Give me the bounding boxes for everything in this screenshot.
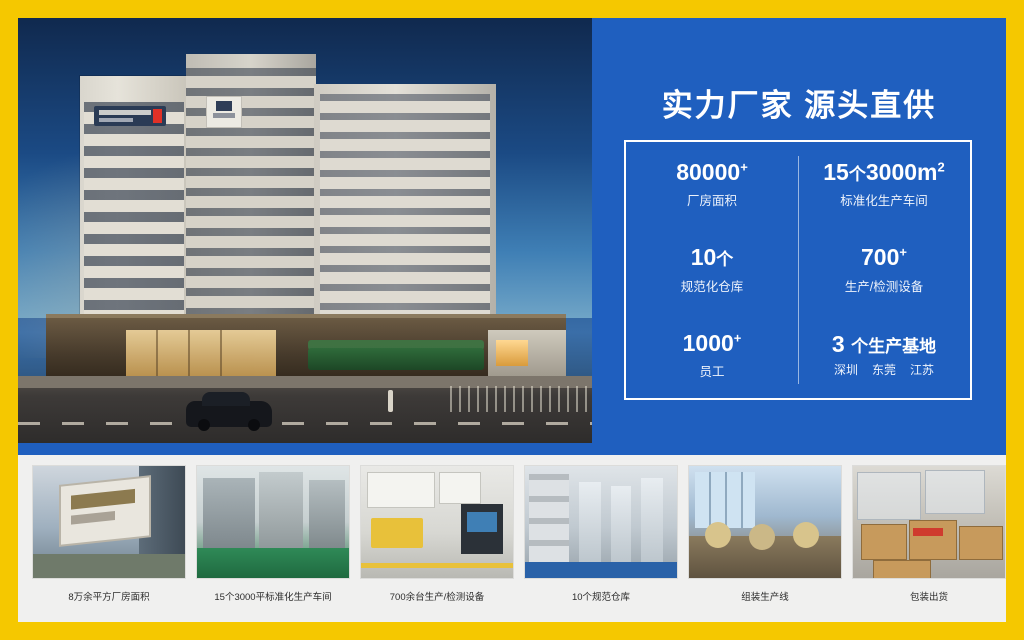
photo-carton bbox=[909, 520, 957, 560]
stat-cell-production-bases: 3 个生产基地 深圳 东莞 江苏 bbox=[798, 313, 970, 398]
guard-house-window bbox=[496, 340, 528, 366]
photo-assembly-part bbox=[705, 522, 731, 548]
thumbnail-photo-equipment bbox=[360, 465, 514, 579]
poster-inner-panel: 实力厂家 源头直供 80000+ 厂房面积 15个3000m2 标准化生产车间 bbox=[18, 18, 1006, 622]
thumbnail-item-equipment[interactable]: 700余台生产/检测设备 bbox=[360, 465, 514, 603]
photo-control-cabinet bbox=[461, 504, 503, 554]
sign-band-secondary bbox=[71, 511, 115, 525]
stat-cell-employees: 1000+ 员工 bbox=[626, 313, 798, 398]
photo-assembly-part bbox=[793, 522, 819, 548]
car-roof bbox=[202, 392, 250, 406]
factory-building-photo bbox=[18, 18, 592, 443]
stat-superscript: + bbox=[899, 245, 907, 260]
thumbnail-photo-assembly-line bbox=[688, 465, 842, 579]
thumbnail-item-factory-area[interactable]: 8万余平方厂房面积 bbox=[32, 465, 186, 603]
stat-number: 1000 bbox=[683, 330, 734, 356]
stats-grid: 80000+ 厂房面积 15个3000m2 标准化生产车间 10个 规范化仓库 bbox=[626, 142, 970, 398]
photo-machine bbox=[259, 472, 303, 552]
lobby-mullion bbox=[220, 330, 222, 378]
thumbnail-item-warehouses[interactable]: 10个规范仓库 bbox=[524, 465, 678, 603]
stat-number: 15 bbox=[823, 159, 849, 185]
thumbnail-photo-workshops bbox=[196, 465, 350, 579]
sign-text-line-2 bbox=[99, 118, 133, 122]
thumbnail-caption: 15个3000平标准化生产车间 bbox=[196, 589, 350, 603]
photo-machine bbox=[309, 480, 345, 548]
photo-ground bbox=[33, 554, 186, 578]
base-location: 深圳 bbox=[834, 361, 858, 378]
stat-superscript: 2 bbox=[937, 159, 944, 174]
stat-cell-floor-area: 80000+ 厂房面积 bbox=[626, 142, 798, 227]
stat-label-workshops: 标准化生产车间 bbox=[840, 190, 928, 209]
thumbnail-strip: 8万余平方厂房面积 15个3000平标准化生产车间 bbox=[18, 455, 1006, 622]
photo-stacker bbox=[641, 478, 663, 570]
cabinet-screen bbox=[467, 512, 497, 532]
photo-carton bbox=[873, 560, 931, 579]
photo-carton bbox=[959, 526, 1003, 560]
badge-mark-icon bbox=[216, 101, 232, 111]
thumbnail-caption: 10个规范仓库 bbox=[524, 589, 678, 603]
rooftop-logo-badge bbox=[206, 96, 242, 128]
stat-number-secondary: 3000m bbox=[866, 159, 938, 185]
thumbnail-caption: 8万余平方厂房面积 bbox=[32, 589, 186, 603]
car-wheel bbox=[198, 419, 210, 431]
stat-cell-workshops: 15个3000m2 标准化生产车间 bbox=[798, 142, 970, 227]
base-location: 江苏 bbox=[910, 361, 934, 378]
photo-window-wall bbox=[695, 472, 755, 528]
sign-text-line-1 bbox=[99, 110, 151, 115]
parked-car bbox=[186, 401, 272, 427]
photo-green-floor bbox=[197, 548, 350, 578]
stat-cell-equipment: 700+ 生产/检测设备 bbox=[798, 227, 970, 312]
guard-house bbox=[488, 330, 566, 382]
thumbnail-photo-factory-area bbox=[32, 465, 186, 579]
photo-storage-rack bbox=[529, 474, 569, 570]
thumbnail-caption: 包装出货 bbox=[852, 589, 1006, 603]
stat-cell-warehouses: 10个 规范化仓库 bbox=[626, 227, 798, 312]
photo-assembly-part bbox=[749, 524, 775, 550]
hero-section: 实力厂家 源头直供 80000+ 厂房面积 15个3000m2 标准化生产车间 bbox=[18, 18, 1006, 443]
stat-number: 80000 bbox=[676, 159, 740, 185]
sign-band bbox=[71, 489, 135, 510]
thumbnail-item-workshops[interactable]: 15个3000平标准化生产车间 bbox=[196, 465, 350, 603]
stat-number: 700 bbox=[861, 244, 899, 270]
stat-value-employees: 1000+ bbox=[683, 331, 742, 356]
sign-red-mark bbox=[153, 109, 162, 123]
photo-wall-board bbox=[367, 472, 435, 508]
thumbnail-list: 8万余平方厂房面积 15个3000平标准化生产车间 bbox=[32, 465, 992, 603]
stat-value-warehouses: 10个 bbox=[691, 245, 734, 270]
photo-blue-floor bbox=[525, 562, 678, 578]
stat-unit: 个生产基地 bbox=[851, 337, 936, 356]
stat-number: 3 bbox=[832, 331, 845, 357]
poster-headline: 实力厂家 源头直供 bbox=[592, 80, 1006, 125]
stat-unit: 个 bbox=[716, 250, 733, 269]
thumbnail-caption: 700余台生产/检测设备 bbox=[360, 589, 514, 603]
stat-value-floor-area: 80000+ bbox=[676, 160, 748, 185]
perimeter-fence bbox=[450, 386, 590, 412]
photo-carton bbox=[861, 524, 907, 560]
thumbnail-caption: 组装生产线 bbox=[688, 589, 842, 603]
stats-box: 80000+ 厂房面积 15个3000m2 标准化生产车间 10个 规范化仓库 bbox=[624, 140, 972, 400]
photo-entrance-sign bbox=[61, 477, 149, 544]
stat-value-equipment: 700+ bbox=[861, 245, 907, 270]
thumbnail-photo-packaging bbox=[852, 465, 1006, 579]
lobby-entrance bbox=[126, 330, 276, 378]
photo-carton-label bbox=[913, 528, 943, 536]
photo-wrapped-pallet bbox=[925, 470, 985, 514]
stat-label-equipment: 生产/检测设备 bbox=[845, 276, 923, 295]
poster-page: 实力厂家 源头直供 80000+ 厂房面积 15个3000m2 标准化生产车间 bbox=[0, 0, 1024, 640]
stat-value-production-bases: 3 个生产基地 bbox=[832, 332, 936, 357]
stat-number: 10 bbox=[691, 244, 717, 270]
lobby-mullion bbox=[188, 330, 190, 378]
thumbnail-item-packaging[interactable]: 包装出货 bbox=[852, 465, 1006, 603]
photo-yellow-machine bbox=[371, 518, 423, 548]
photo-wrapped-pallet bbox=[857, 472, 921, 520]
car-wheel bbox=[248, 419, 260, 431]
stat-label-warehouses: 规范化仓库 bbox=[681, 276, 744, 295]
photo-floor-marking bbox=[361, 563, 514, 568]
lobby-mullion bbox=[156, 330, 158, 378]
stat-label-employees: 员工 bbox=[699, 361, 724, 380]
road-center-line bbox=[18, 422, 592, 425]
photo-stacker bbox=[611, 486, 631, 570]
stat-superscript: + bbox=[740, 159, 748, 174]
photo-stacker bbox=[579, 482, 601, 570]
thumbnail-photo-warehouses bbox=[524, 465, 678, 579]
building-logo-sign bbox=[94, 106, 166, 126]
pedestrian-figure bbox=[388, 390, 393, 412]
photo-machine bbox=[203, 478, 255, 550]
badge-bar bbox=[213, 113, 235, 118]
base-location: 东莞 bbox=[872, 361, 896, 378]
stat-unit: 个 bbox=[849, 165, 866, 184]
stat-label-floor-area: 厂房面积 bbox=[687, 190, 737, 209]
stats-panel: 实力厂家 源头直供 80000+ 厂房面积 15个3000m2 标准化生产车间 bbox=[592, 18, 1006, 443]
stat-value-workshops: 15个3000m2 bbox=[823, 160, 944, 185]
stat-superscript: + bbox=[734, 330, 742, 345]
thumbnail-item-assembly-line[interactable]: 组装生产线 bbox=[688, 465, 842, 603]
photo-wall-board bbox=[439, 472, 481, 504]
planter-hedge bbox=[308, 348, 484, 370]
production-base-locations: 深圳 东莞 江苏 bbox=[834, 361, 934, 378]
